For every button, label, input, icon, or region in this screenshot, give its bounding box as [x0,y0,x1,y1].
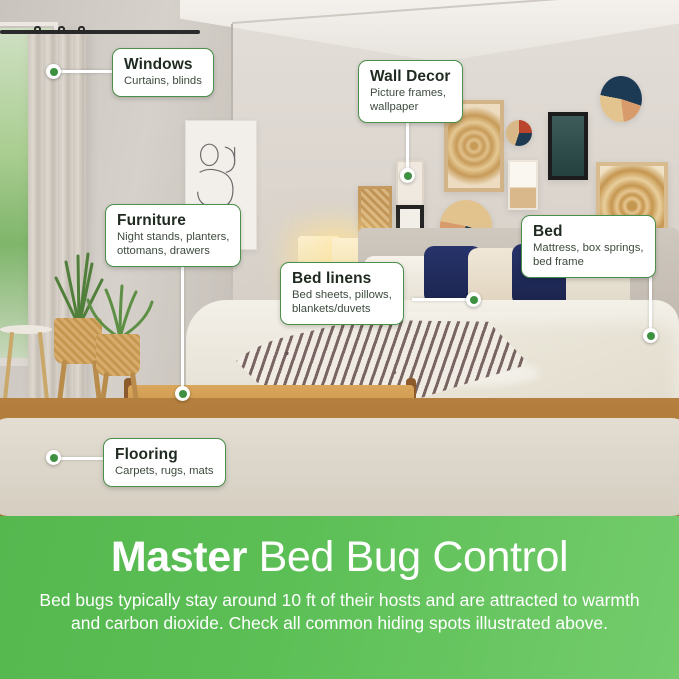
hotspot-dot-windows [46,64,61,79]
callout-subtitle: Picture frames, wallpaper [370,86,451,114]
banner-subtitle: Bed bugs typically stay around 10 ft of … [36,589,644,636]
banner-title-bold: Master [111,533,247,581]
bedroom-scene-image: Windows Curtains, blinds Wall Decor Pict… [0,0,679,516]
callout-subtitle: Curtains, blinds [124,74,202,88]
frame-art [552,116,584,176]
callout-furniture[interactable]: Furniture Night stands, planters, ottoma… [105,204,241,267]
hotspot-dot-wall-decor [400,168,415,183]
gallery-frame-black-tall [548,112,588,180]
callout-bed[interactable]: Bed Mattress, box springs, bed frame [521,215,656,278]
callout-title: Furniture [117,212,229,229]
hotspot-dot-bed-linens [466,292,481,307]
gallery-frame-white-poster [508,160,538,210]
leader-line-bed-linens [412,298,474,301]
callout-title: Flooring [115,446,214,463]
infographic-poster: Windows Curtains, blinds Wall Decor Pict… [0,0,679,679]
leader-line-windows [52,70,114,73]
callout-title: Bed [533,223,644,240]
plant-svg [84,282,156,338]
frame-art [361,189,389,229]
banner-title-rest: Bed Bug Control [247,533,568,581]
callout-subtitle: Bed sheets, pillows, blankets/duvets [292,288,392,316]
callout-bed-linens[interactable]: Bed linens Bed sheets, pillows, blankets… [280,262,404,325]
frame-art [510,162,536,208]
gallery-plate-large-round [600,76,642,122]
planter-small [96,334,140,376]
leader-line-bed [649,268,652,334]
hotspot-dot-bed [643,328,658,343]
callout-subtitle: Carpets, rugs, mats [115,464,214,478]
callout-title: Bed linens [292,270,392,287]
callout-subtitle: Night stands, planters, ottomans, drawer… [117,230,229,258]
hotspot-dot-furniture [175,386,190,401]
callout-subtitle: Mattress, box springs, bed frame [533,241,644,269]
bottom-banner: Master Bed Bug Control Bed bugs typicall… [0,516,679,679]
hotspot-dot-flooring [46,450,61,465]
gallery-frame-woven-small [358,186,392,232]
callout-title: Windows [124,56,202,73]
side-table-top [0,325,52,334]
banner-title: Master Bed Bug Control [0,535,679,580]
curtain [28,34,86,442]
callout-windows[interactable]: Windows Curtains, blinds [112,48,214,97]
callout-title: Wall Decor [370,68,451,85]
callout-flooring[interactable]: Flooring Carpets, rugs, mats [103,438,226,487]
callout-wall-decor[interactable]: Wall Decor Picture frames, wallpaper [358,60,463,123]
area-rug [0,418,679,516]
leader-line-furniture [181,252,184,392]
gallery-plate-small-round [506,120,532,146]
